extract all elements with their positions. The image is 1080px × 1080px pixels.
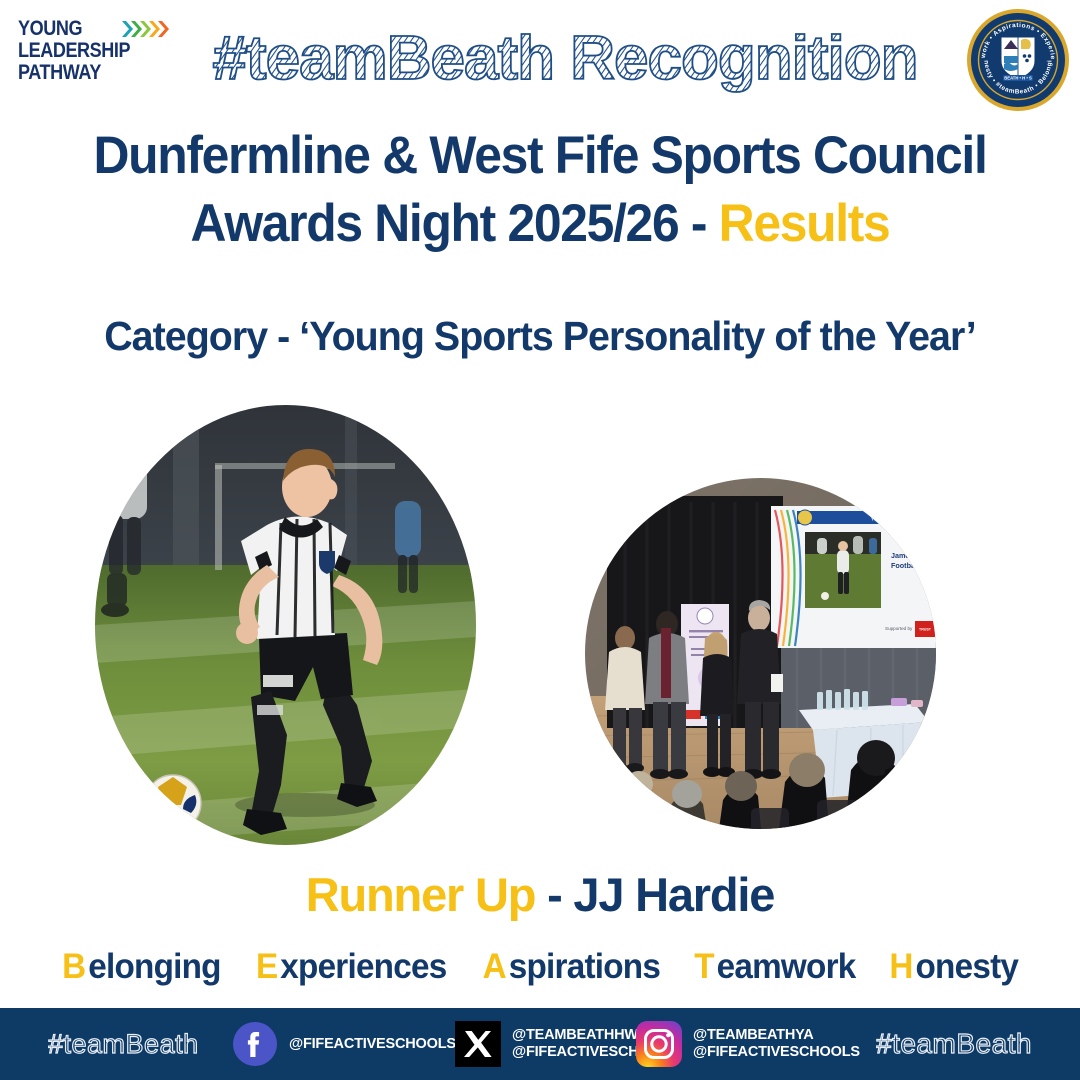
footer-hashtag-left: #teamBeath <box>48 1026 198 1062</box>
slide-supported-by: Supported by <box>885 626 913 631</box>
awards-presentation-photo: Supporting local sport since 1961 Young … <box>585 478 936 829</box>
social-x-handle-1: @TEAMBEATHHWB <box>512 1027 648 1044</box>
value-experiences-initial: E <box>256 947 277 986</box>
value-honesty-initial: H <box>890 947 913 986</box>
social-x-handle-2: @FIFEACTIVESCH <box>512 1044 648 1061</box>
value-experiences-rest: xperiences <box>280 947 446 986</box>
value-teamwork: Teamwork <box>695 946 856 988</box>
value-belonging-initial: B <box>62 947 85 986</box>
footballer-photo-graphic <box>95 405 476 845</box>
social-x-twitter[interactable]: @TEAMBEATHHWB @FIFEACTIVESCH <box>455 1021 648 1067</box>
social-instagram-handle-2: @FIFEACTIVESCHOOLS <box>693 1044 860 1061</box>
value-aspirations: Aspirations <box>482 946 659 988</box>
social-instagram-handle-1: @TEAMBEATHYA <box>693 1027 860 1044</box>
social-facebook-text: @FIFEACTIVESCHOOLS <box>289 1036 456 1053</box>
value-belonging-rest: elonging <box>89 947 221 986</box>
slide-header-text: Young Sports Person of the Year Award <box>871 517 936 522</box>
value-honesty: Honesty <box>890 946 1019 988</box>
slide-winner-name: James Hardie <box>891 551 936 560</box>
svg-text:Supporting local sport since 1: Supporting local sport since 1961 <box>817 517 879 522</box>
beath-values-row: Belonging Experiences Aspirations Teamwo… <box>0 946 1080 988</box>
x-twitter-icon[interactable] <box>455 1021 501 1067</box>
value-aspirations-rest: spirations <box>508 947 659 986</box>
footer-hashtag-left-label: #teamBeath <box>48 1029 198 1059</box>
result-prefix: Runner Up <box>306 868 535 921</box>
footer-hashtag-right-label: #teamBeath <box>876 1028 1032 1059</box>
awards-presentation-graphic: Supporting local sport since 1961 Young … <box>585 478 936 829</box>
social-facebook-handle-1: @FIFEACTIVESCHOOLS <box>289 1036 456 1053</box>
footballer-action-photo <box>95 405 476 845</box>
value-aspirations-initial: A <box>482 947 505 986</box>
value-teamwork-initial: T <box>695 947 715 986</box>
svg-text:TRUST: TRUST <box>919 628 932 632</box>
social-instagram-text: @TEAMBEATHYA @FIFEACTIVESCHOOLS <box>693 1027 860 1061</box>
facebook-icon[interactable] <box>232 1021 278 1067</box>
social-facebook[interactable]: @FIFEACTIVESCHOOLS <box>232 1021 456 1067</box>
social-x-text: @TEAMBEATHHWB @FIFEACTIVESCH <box>512 1027 648 1061</box>
value-experiences: Experiences <box>256 946 446 988</box>
result-line: Runner Up - JJ Hardie <box>0 866 1080 924</box>
footer-hashtag-right: #teamBeath <box>876 1026 1052 1062</box>
footer-bar: #teamBeath @FIFEACTIVESCHOOLS @TEAMBEATH… <box>0 1008 1080 1080</box>
social-instagram[interactable]: @TEAMBEATHYA @FIFEACTIVESCHOOLS <box>636 1021 860 1067</box>
instagram-icon[interactable] <box>636 1021 682 1067</box>
value-belonging: Belonging <box>62 946 221 988</box>
result-suffix: - JJ Hardie <box>535 868 774 921</box>
slide-winner-sport: Football <box>891 561 919 570</box>
value-teamwork-rest: eamwork <box>717 947 856 986</box>
value-honesty-rest: onesty <box>916 947 1019 986</box>
